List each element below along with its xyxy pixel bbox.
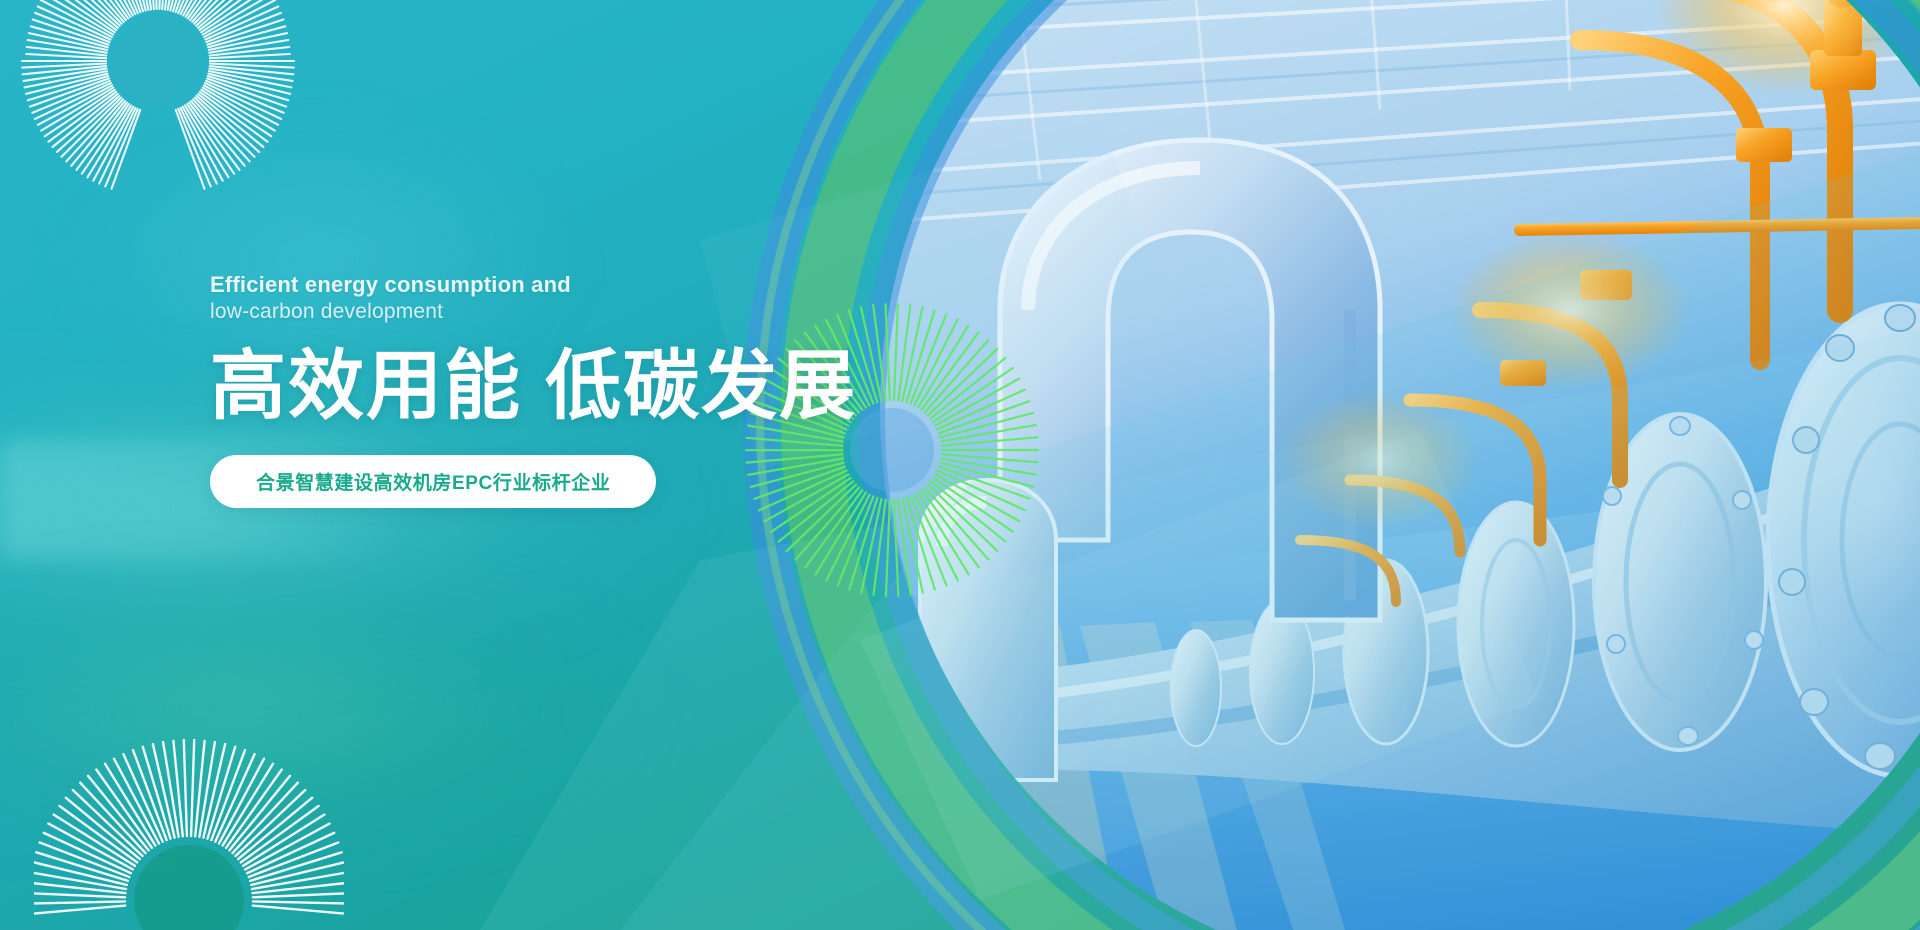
sunburst-icon-bottom-left	[34, 690, 344, 930]
hero-copy: Efficient energy consumption and low-car…	[210, 272, 930, 508]
eyebrow-line-2: low-carbon development	[210, 299, 930, 325]
tagline-pill[interactable]: 合景智慧建设高效机房EPC行业标杆企业	[210, 455, 656, 508]
sunburst-icon-top-left	[18, 0, 298, 246]
hero-banner: Efficient energy consumption and low-car…	[0, 0, 1920, 930]
page-title: 高效用能 低碳发展	[210, 341, 930, 433]
eyebrow-line-1: Efficient energy consumption and	[210, 272, 930, 298]
